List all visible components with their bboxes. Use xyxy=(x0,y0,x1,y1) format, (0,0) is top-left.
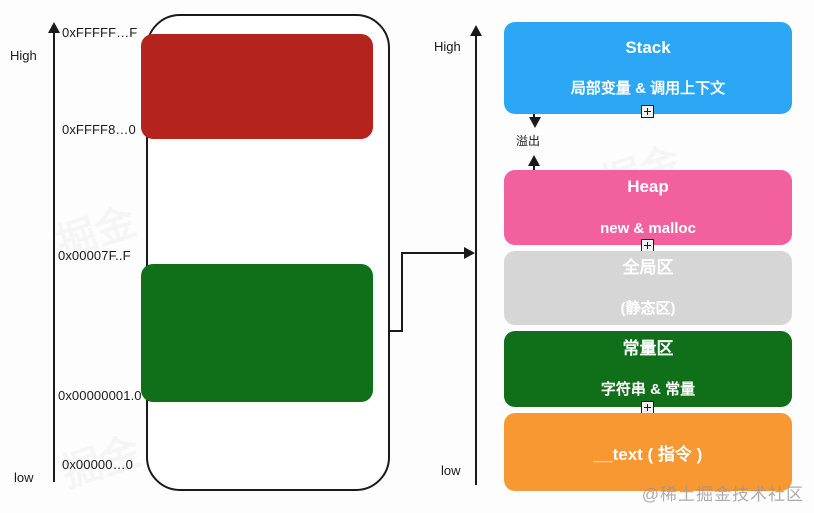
address-label-user-top: 0x00007F..F xyxy=(58,248,131,263)
address-label-kernel-base: 0xFFFF8…0 xyxy=(62,122,136,137)
left-axis-low-label: low xyxy=(14,470,34,485)
segment-constant-subtitle: 字符串 & 常量 xyxy=(601,381,695,399)
segment-global[interactable]: 全局区 (静态区) xyxy=(504,251,792,325)
connector-segment-vertical xyxy=(401,252,403,332)
segment-global-subtitle: (静态区) xyxy=(621,300,676,318)
connector-segment-horizontal-upper xyxy=(401,252,466,254)
right-axis-high-label: High xyxy=(434,39,461,54)
segment-heap[interactable]: Heap new & malloc xyxy=(504,170,792,245)
site-watermark: @稀土掘金技术社区 xyxy=(642,480,804,505)
overflow-label: 溢出 xyxy=(516,132,540,149)
address-label-user-base: 0x00000001.0 xyxy=(58,388,142,403)
resize-handle-stack-icon[interactable] xyxy=(641,105,654,118)
left-axis-high-label: High xyxy=(10,48,37,63)
right-axis-line xyxy=(475,35,477,485)
memory-layout-diagram: 掘金 掘金 掘金 掘金 掘金 High low 0xFFFFF…F 0xFFFF… xyxy=(0,0,814,513)
segment-heap-subtitle: new & malloc xyxy=(600,220,696,238)
left-axis-line xyxy=(53,32,55,482)
phone-kernel-region-block xyxy=(141,34,373,139)
segment-heap-title: Heap xyxy=(627,177,669,197)
segment-stack-subtitle: 局部变量 & 调用上下文 xyxy=(571,80,725,98)
segment-constant[interactable]: 常量区 字符串 & 常量 xyxy=(504,331,792,407)
address-label-top: 0xFFFFF…F xyxy=(62,25,137,40)
segment-stack-title: Stack xyxy=(625,38,670,58)
phone-user-region-block xyxy=(141,264,373,402)
segment-constant-title: 常量区 xyxy=(623,339,674,359)
connector-arrow-icon xyxy=(464,247,475,259)
segment-text-title: __text ( 指令 ) xyxy=(594,440,703,465)
segment-stack[interactable]: Stack 局部变量 & 调用上下文 xyxy=(504,22,792,114)
right-axis-low-label: low xyxy=(441,463,461,478)
segment-global-title: 全局区 xyxy=(623,258,674,278)
address-label-bottom: 0x00000…0 xyxy=(62,457,133,472)
overflow-arrow-down-icon xyxy=(529,117,541,128)
